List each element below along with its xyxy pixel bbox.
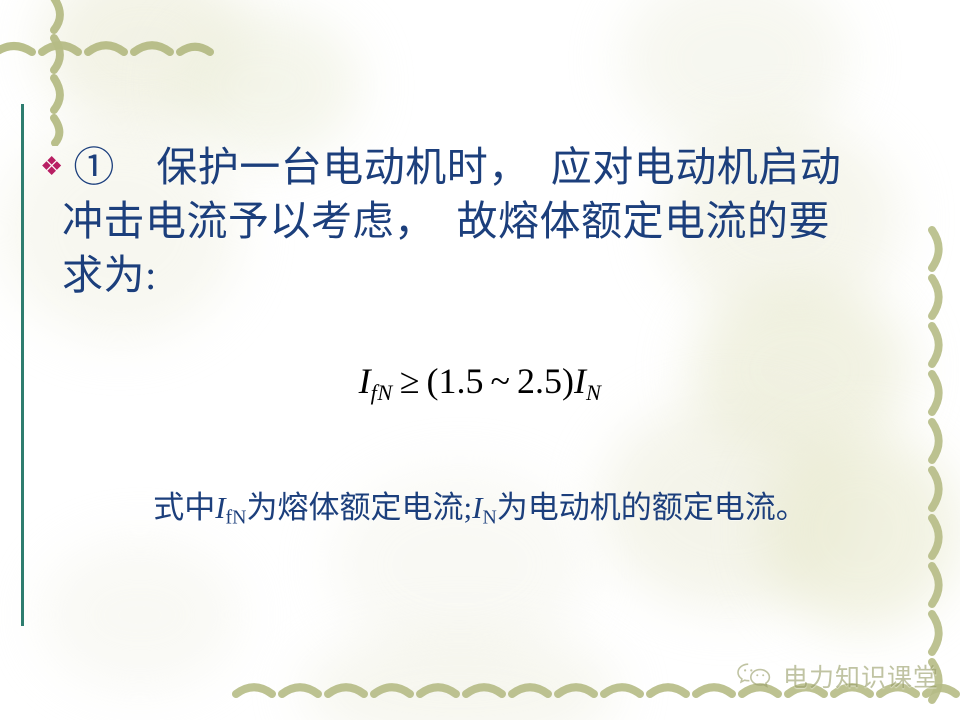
body-line-2: 冲击电流予以考虑， 故熔体额定电流的要 [40,194,930,248]
formula-caption: 式中IfN为熔体额定电流;IN为电动机的额定电流。 [0,482,960,530]
caption-mid-1: 为熔体额定电流; [246,490,472,525]
bamboo-top-horizontal-decoration [0,26,214,70]
formula-rhs-symbol: I [574,361,586,401]
formula-rhs-subscript: N [586,380,601,405]
wechat-icon [736,661,774,691]
formula-close-paren: ) [562,361,574,401]
formula-lhs-subscript: fN [371,380,393,405]
formula-expression: IfN≥(1.5~2.5)IN [0,360,960,406]
formula-relation: ≥ [400,361,420,401]
caption-symbol-2: I [472,490,482,525]
caption-symbol-1: I [215,490,225,525]
body-text-block: ❖① 保护一台电动机时， 应对电动机启动 冲击电流予以考虑， 故熔体额定电流的要… [40,140,930,302]
diamond-bullet-icon: ❖ [40,152,63,181]
caption-subscript-2: N [482,507,496,529]
body-line-1-text: ① 保护一台电动机时， 应对电动机启动 [73,144,841,190]
slide-canvas: ❖① 保护一台电动机时， 应对电动机启动 冲击电流予以考虑， 故熔体额定电流的要… [0,0,960,720]
body-line-1: ❖① 保护一台电动机时， 应对电动机启动 [40,140,930,194]
watermark-label: 电力知识课堂 [783,658,939,694]
formula-lhs-symbol: I [359,361,371,401]
formula-open-paren: ( [426,361,438,401]
caption-prefix: 式中 [153,490,215,525]
channel-watermark: 电力知识课堂 [736,658,939,694]
caption-subscript-1: fN [226,507,247,529]
formula-range-low: 1.5 [438,361,483,401]
caption-mid-2: 为电动机的额定电流。 [497,490,807,525]
bamboo-top-vertical-decoration [36,0,80,146]
body-line-3: 求为: [40,248,930,302]
bamboo-bottom-horizontal-decoration [232,672,960,716]
formula-tilde: ~ [490,361,509,401]
formula-range-high: 2.5 [517,361,562,401]
